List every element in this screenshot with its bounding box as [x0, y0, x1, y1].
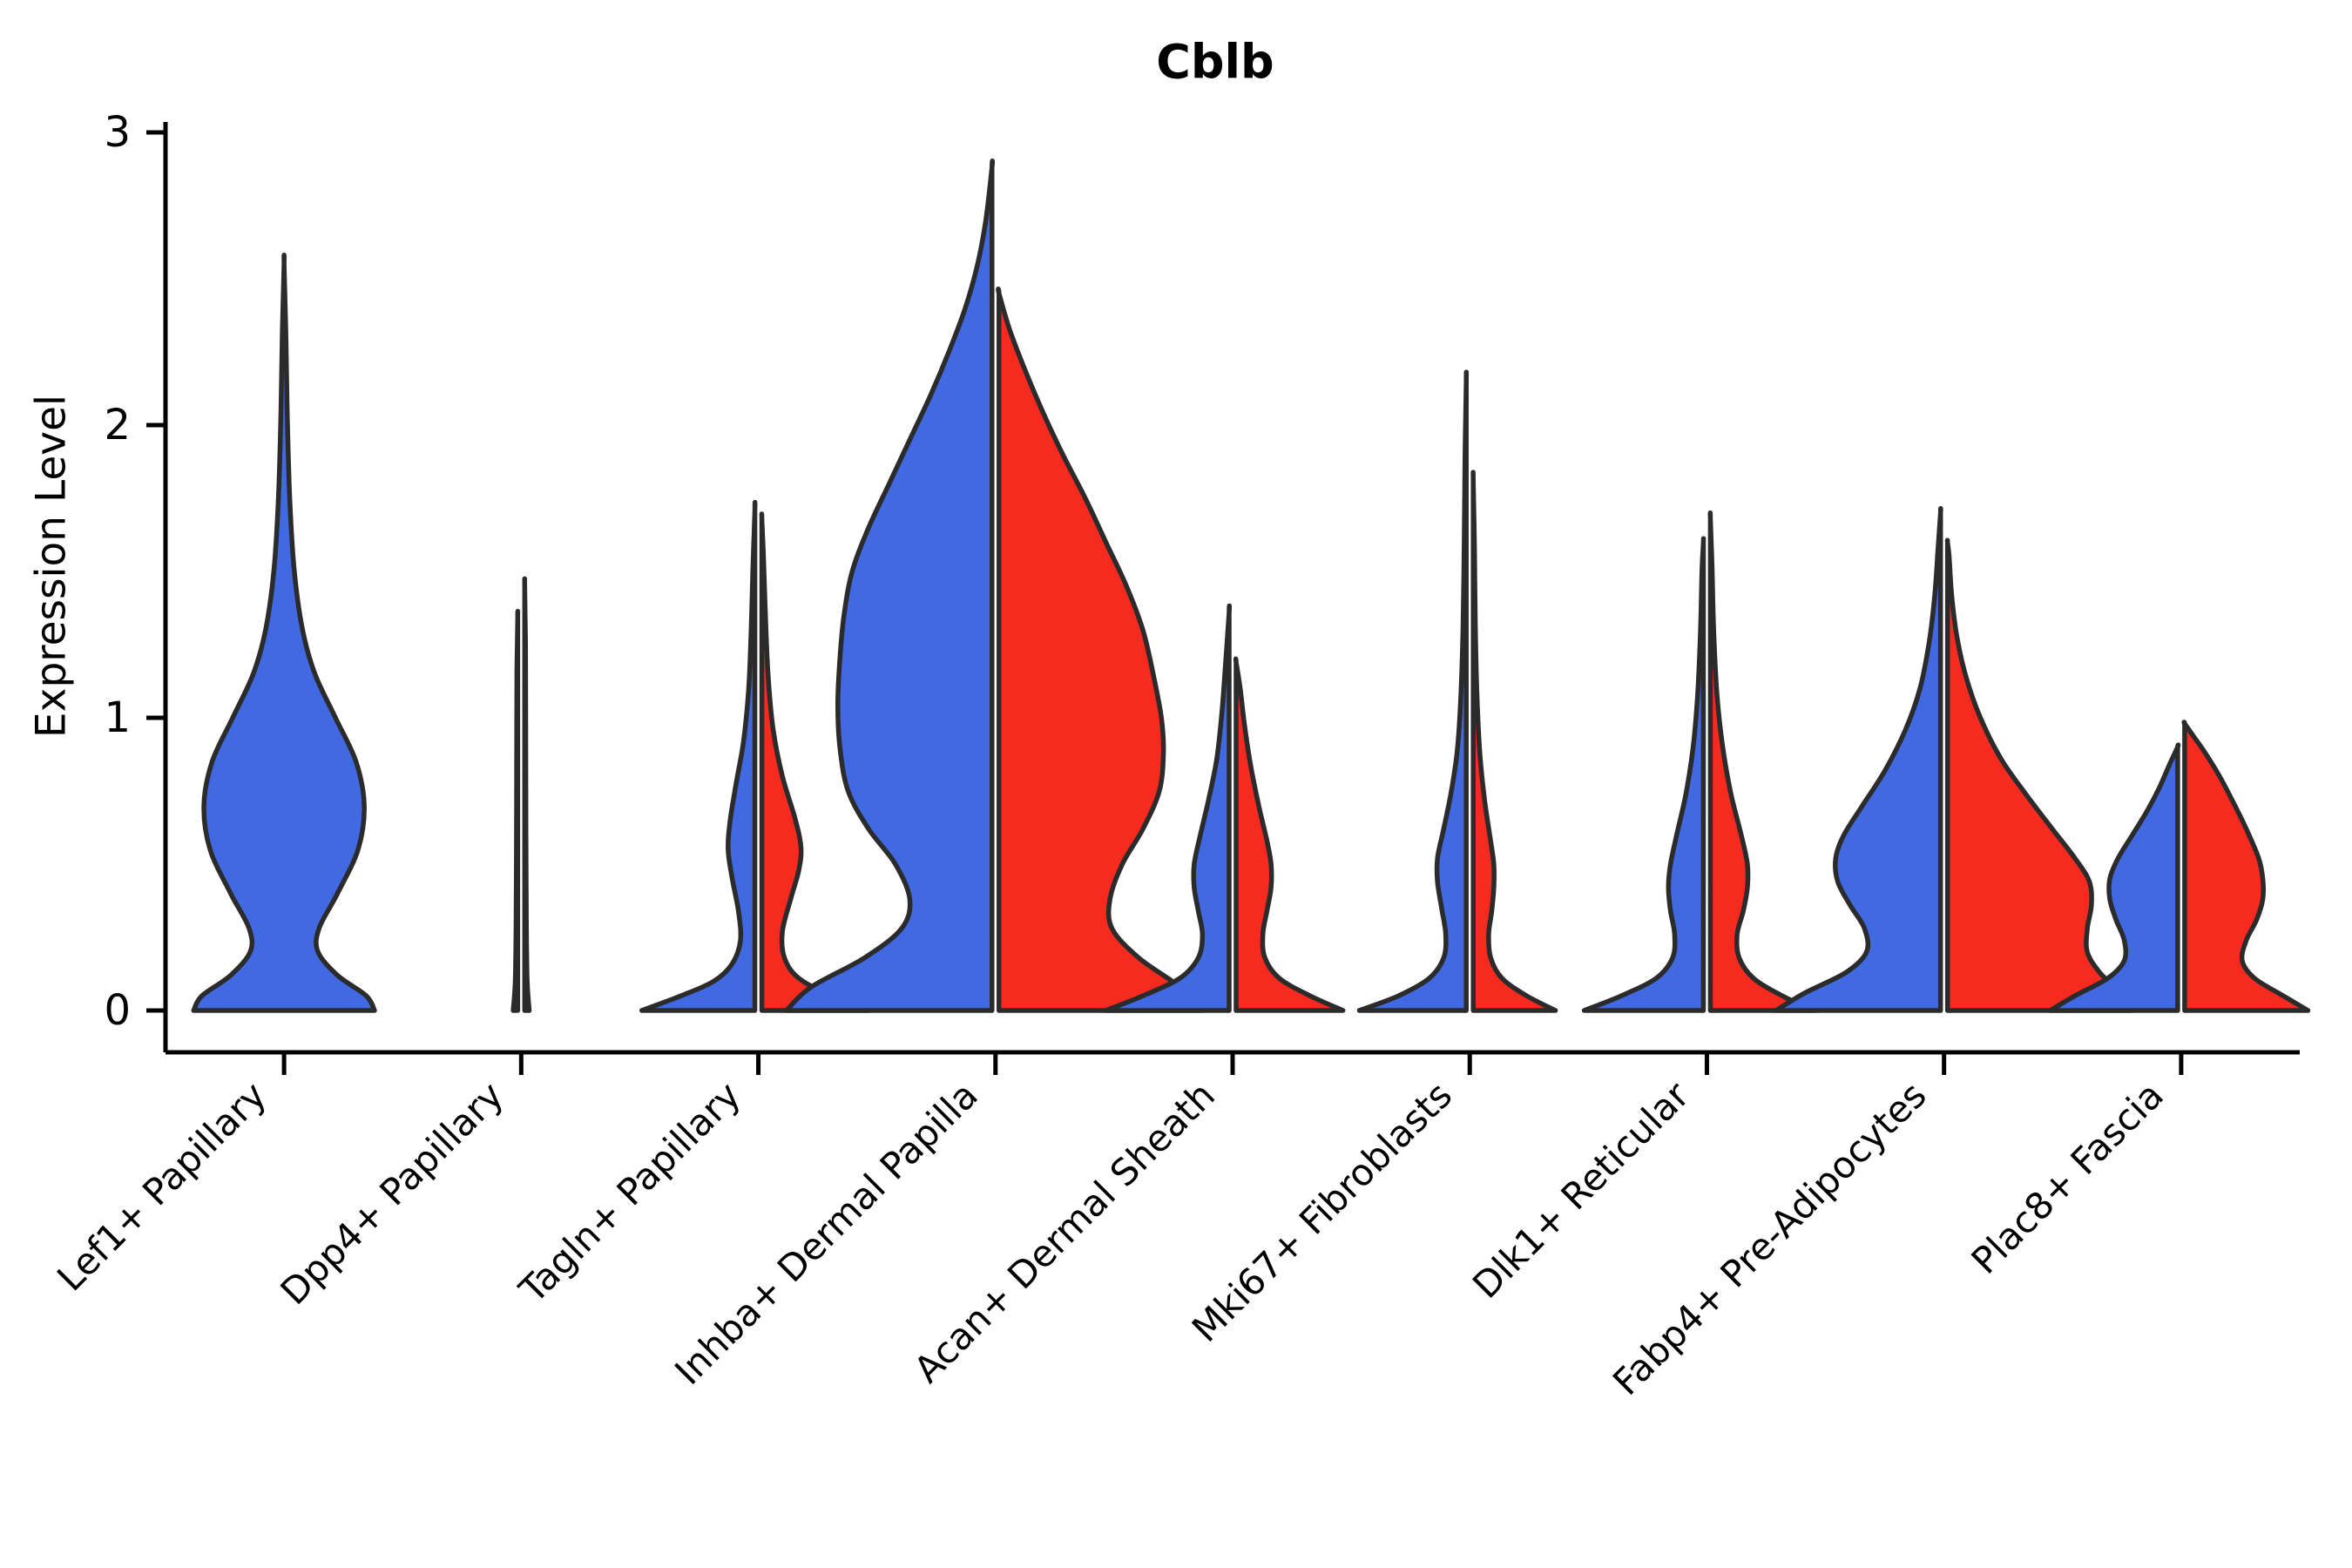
x-tick-label-dpp4-papillary: Dpp4+ Papillary — [273, 1073, 512, 1313]
violin-tagln-papillary-left — [642, 503, 755, 1010]
violin-dlk1-reticular-right — [1710, 513, 1813, 1010]
y-axis-label: Expression Level — [28, 395, 76, 738]
violin-dpp4-papillary-left — [513, 612, 517, 1010]
y-tick-label: 0 — [104, 986, 131, 1035]
x-axis-ticks: Lef1+ PapillaryDpp4+ PapillaryTagln+ Pap… — [49, 1052, 2181, 1403]
violin-plac8-fascia-right — [2184, 722, 2308, 1010]
violin-plot-canvas: Cblb Expression Level 0123 Lef1+ Papilla… — [0, 0, 2352, 1568]
violin-fabp4-pre-adipocytes-right — [1948, 540, 2133, 1010]
violin-plot-figure: Cblb Expression Level 0123 Lef1+ Papilla… — [0, 0, 2352, 1568]
violin-dpp4-papillary-right — [524, 578, 529, 1010]
violin-mki67-fibroblasts-right — [1473, 472, 1556, 1010]
x-tick-label-lef1-papillary: Lef1+ Papillary — [49, 1073, 274, 1299]
violin-mki67-fibroblasts-left — [1360, 372, 1467, 1010]
y-tick-label: 2 — [104, 401, 131, 449]
violin-inhba-dermal-papilla-right — [998, 289, 1200, 1010]
violin-lef1-papillary-single — [193, 255, 375, 1010]
page-title: Cblb — [1156, 35, 1274, 90]
x-tick-label-tagln-papillary: Tagln+ Papillary — [510, 1073, 748, 1311]
y-axis-ticks: 0123 — [104, 108, 166, 1035]
violin-fabp4-pre-adipocytes-left — [1776, 509, 1941, 1010]
x-tick-label-plac8-fascia: Plac8+ Fascia — [1963, 1073, 2172, 1281]
violin-dlk1-reticular-left — [1585, 538, 1704, 1010]
violin-inhba-dermal-papilla-left — [787, 161, 993, 1010]
y-tick-label: 1 — [104, 693, 131, 742]
y-tick-label: 3 — [104, 108, 131, 157]
x-tick-label-dlk1-reticular: Dlk1+ Reticular — [1464, 1073, 1698, 1307]
violin-series-group — [193, 161, 2308, 1010]
violin-acan-dermal-sheath-right — [1236, 659, 1343, 1010]
x-tick-label-mki67-fibroblasts: Mki67+ Fibroblasts — [1184, 1073, 1460, 1349]
